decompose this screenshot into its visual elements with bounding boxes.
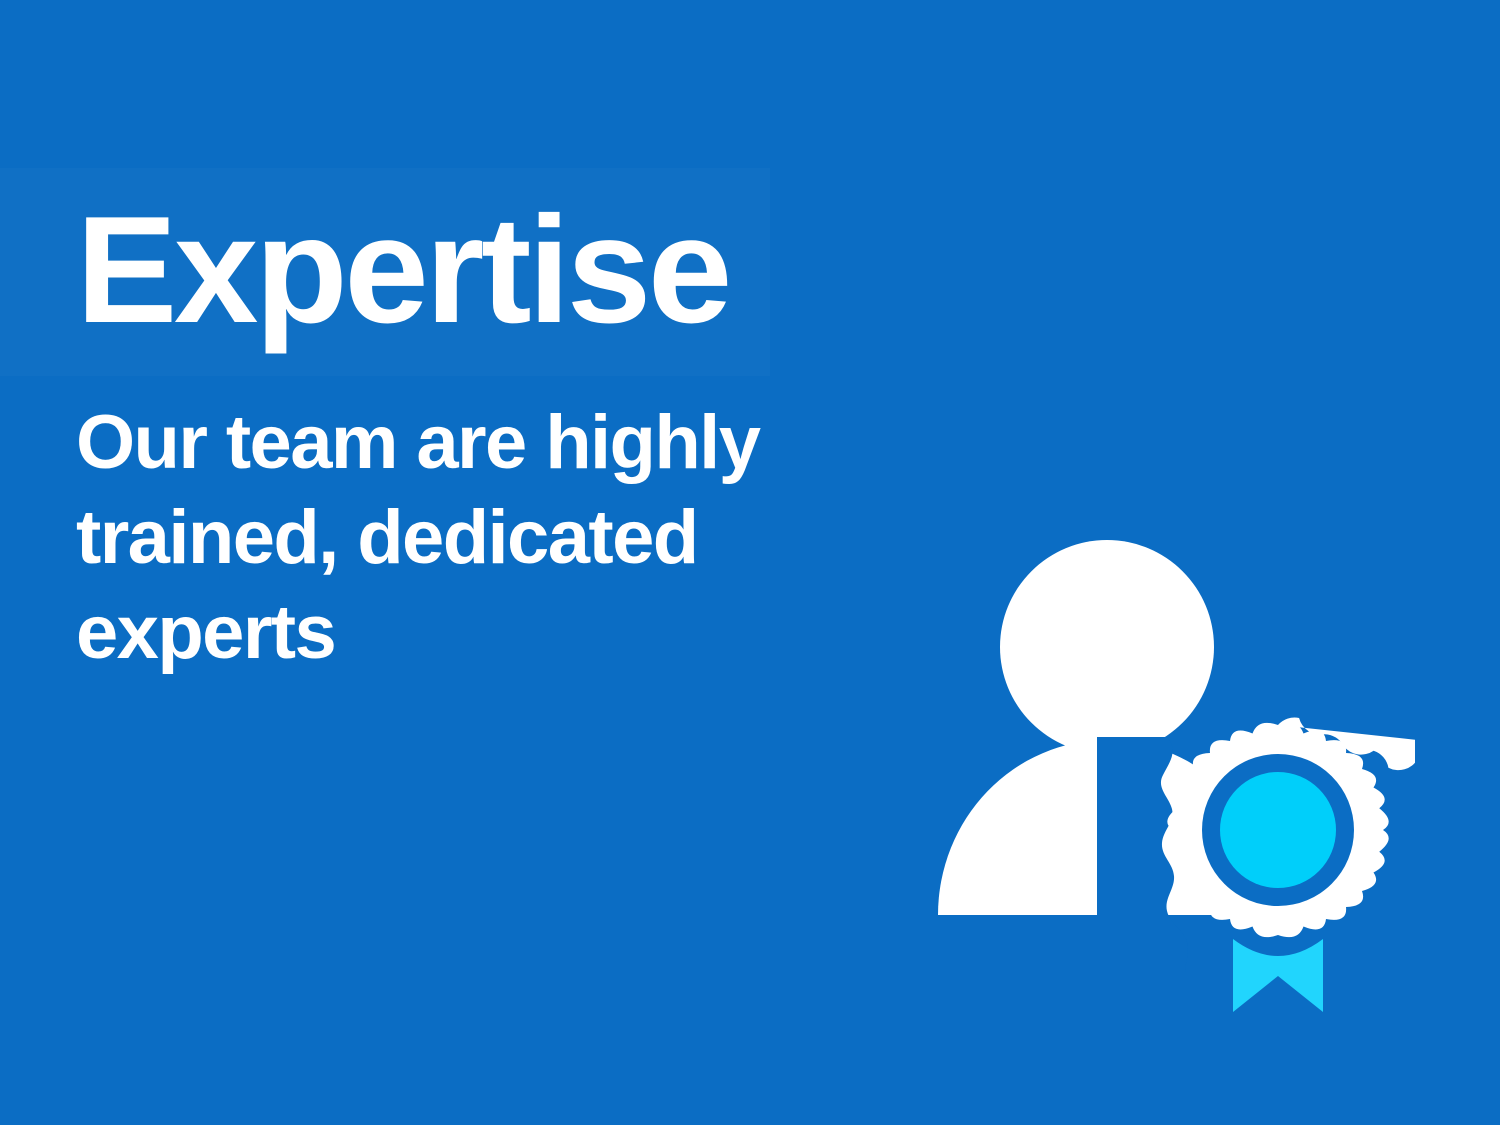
certified-person-icon (915, 515, 1415, 1025)
person-head-shape (1000, 540, 1214, 754)
subtitle-line-2: trained, dedicated (76, 490, 886, 585)
badge-center-shape (1220, 772, 1336, 888)
badge-ribbon-shape (1233, 939, 1323, 1012)
subtitle-line-1: Our team are highly (76, 395, 886, 490)
slide-copy-block: Expertise Our team are highly trained, d… (76, 196, 936, 680)
slide-canvas: Expertise Our team are highly trained, d… (0, 0, 1500, 1125)
slide-subtitle: Our team are highly trained, dedicated e… (76, 345, 886, 680)
subtitle-line-3: experts (76, 585, 886, 680)
page-title: Expertise (76, 196, 936, 345)
